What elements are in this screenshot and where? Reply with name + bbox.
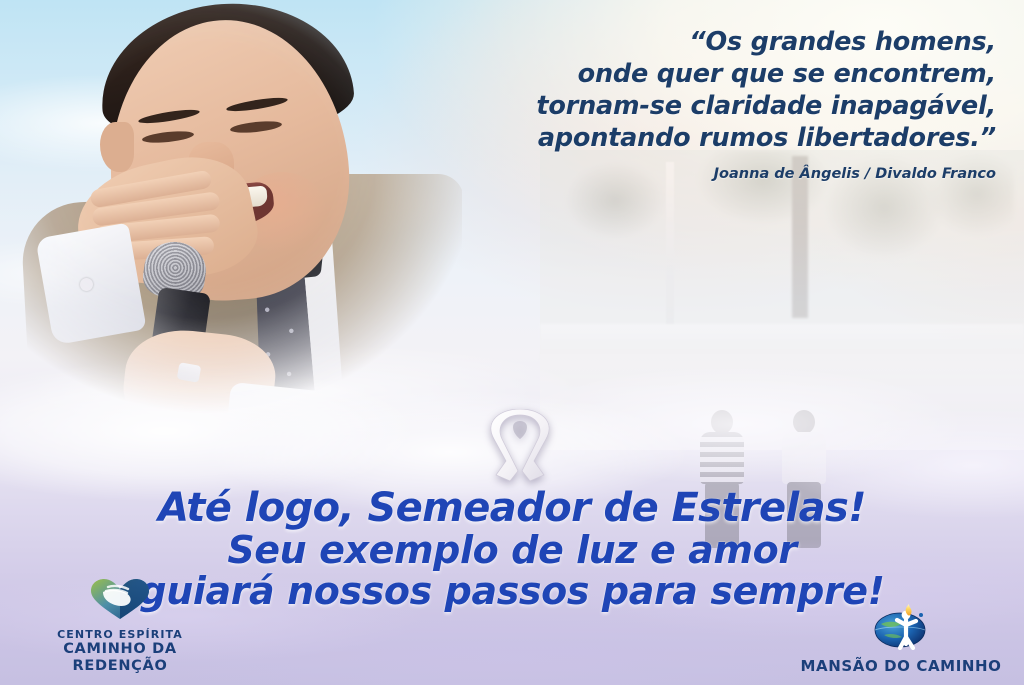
- headline-line-1: Até logo, Semeador de Estrelas!: [0, 486, 1024, 530]
- logo-left-line-2: CAMINHO DA REDENÇÃO: [14, 641, 226, 675]
- portrait-divaldo-franco: [0, 0, 462, 440]
- portrait-ear: [100, 122, 134, 172]
- photo-person-torso: [700, 432, 744, 484]
- memorial-poster: “Os grandes homens, onde quer que se enc…: [0, 0, 1024, 685]
- portrait-ring: [177, 362, 202, 383]
- quote-block: “Os grandes homens, onde quer que se enc…: [430, 26, 996, 182]
- logo-right-line-2: MANSÃO DO CAMINHO: [800, 658, 1001, 675]
- photo-ground: [540, 354, 1024, 450]
- quote-line-4: apontando rumos libertadores.”: [430, 122, 996, 154]
- logo-left-text: CENTRO ESPÍRITA CAMINHO DA REDENÇÃO: [14, 628, 226, 675]
- logo-mansao-do-caminho: MANSÃO DO CAMINHO: [786, 604, 1016, 675]
- background-photo-two-men-walking: [540, 150, 1024, 450]
- portrait-cuff-button: [80, 278, 93, 291]
- headline-line-2: Seu exemplo de luz e amor: [0, 530, 1024, 570]
- photo-person-head: [711, 410, 733, 434]
- mourning-ribbon-icon: [482, 409, 558, 487]
- globe-figure-icon: [871, 604, 931, 655]
- quote-attribution: Joanna de Ângelis / Divaldo Franco: [430, 166, 996, 182]
- photo-pole: [666, 162, 674, 348]
- logo-centro-espirita-caminho-da-redencao: CENTRO ESPÍRITA CAMINHO DA REDENÇÃO: [14, 578, 226, 675]
- heart-hands-icon: [89, 578, 151, 625]
- quote-line-2: onde quer que se encontrem,: [430, 58, 996, 90]
- photo-person-torso: [782, 432, 826, 484]
- logo-right-text: MANSÃO DO CAMINHO: [800, 658, 1001, 675]
- logo-left-line-1: CENTRO ESPÍRITA: [14, 628, 226, 641]
- quote-line-3: tornam-se claridade inapagável,: [430, 90, 996, 122]
- photo-person-head: [793, 410, 815, 434]
- quote-line-1: “Os grandes homens,: [430, 26, 996, 58]
